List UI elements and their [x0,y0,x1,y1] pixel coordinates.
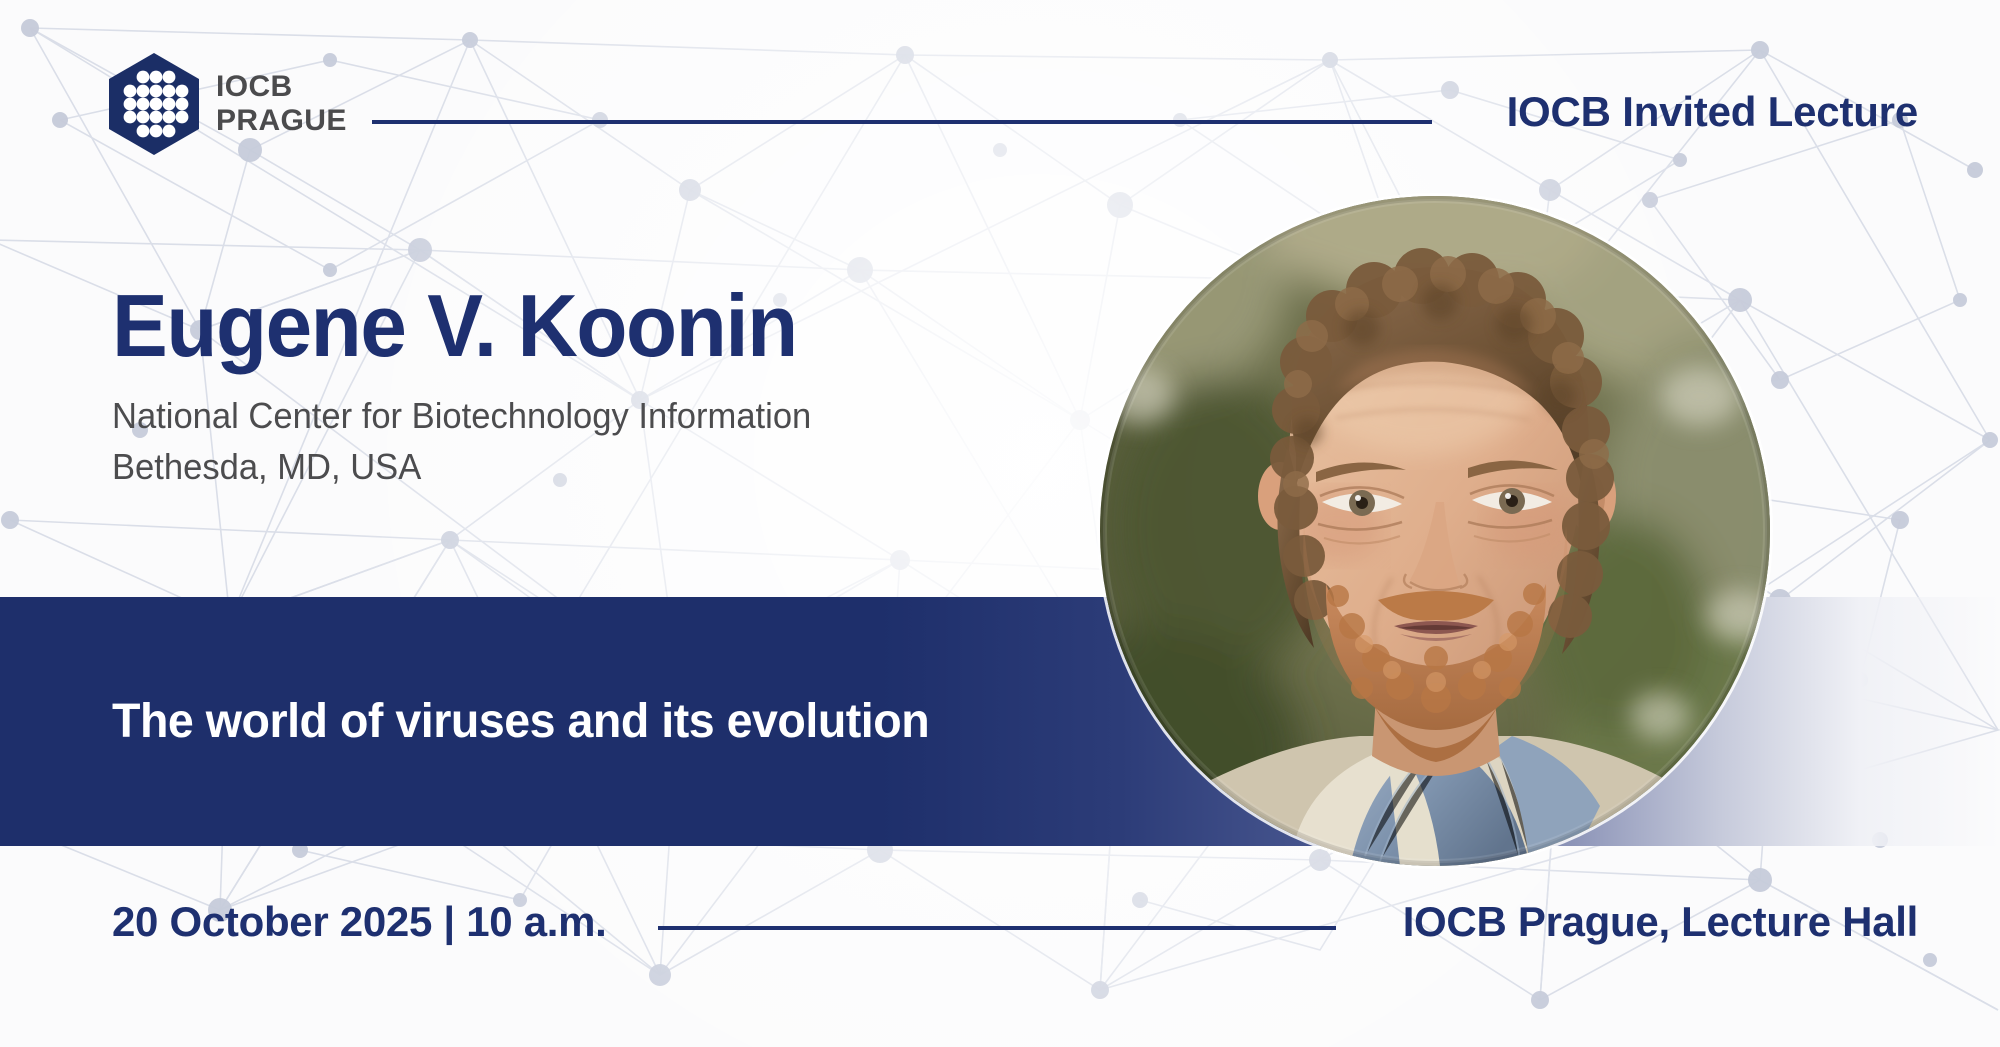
speaker-affiliation-line-2: Bethesda, MD, USA [112,441,811,492]
brand-logo: IOCB PRAGUE [108,52,347,156]
invited-lecture-poster: IOCB PRAGUE IOCB Invited Lecture Eugene … [0,0,2000,1047]
footer-venue: IOCB Prague, Lecture Hall [1403,898,1918,946]
speaker-affiliation-line-1: National Center for Biotechnology Inform… [112,390,811,441]
speaker-block: Eugene V. Koonin National Center for Bio… [112,282,840,492]
brand-logo-line-1: IOCB [216,70,347,104]
footer-divider-rule [658,926,1336,930]
footer-datetime: 20 October 2025 | 10 a.m. [112,898,607,946]
poster-header: IOCB PRAGUE IOCB Invited Lecture [0,0,2000,180]
iocb-hexagon-logo-icon [108,52,200,156]
header-title: IOCB Invited Lecture [1507,88,1918,136]
speaker-portrait [1100,196,1770,866]
speaker-affiliation: National Center for Biotechnology Inform… [112,390,811,492]
brand-logo-wordmark: IOCB PRAGUE [216,70,347,137]
lecture-title: The world of viruses and its evolution [112,694,929,749]
header-divider-rule [372,120,1432,124]
speaker-name: Eugene V. Koonin [112,282,804,370]
brand-logo-line-2: PRAGUE [216,104,347,138]
